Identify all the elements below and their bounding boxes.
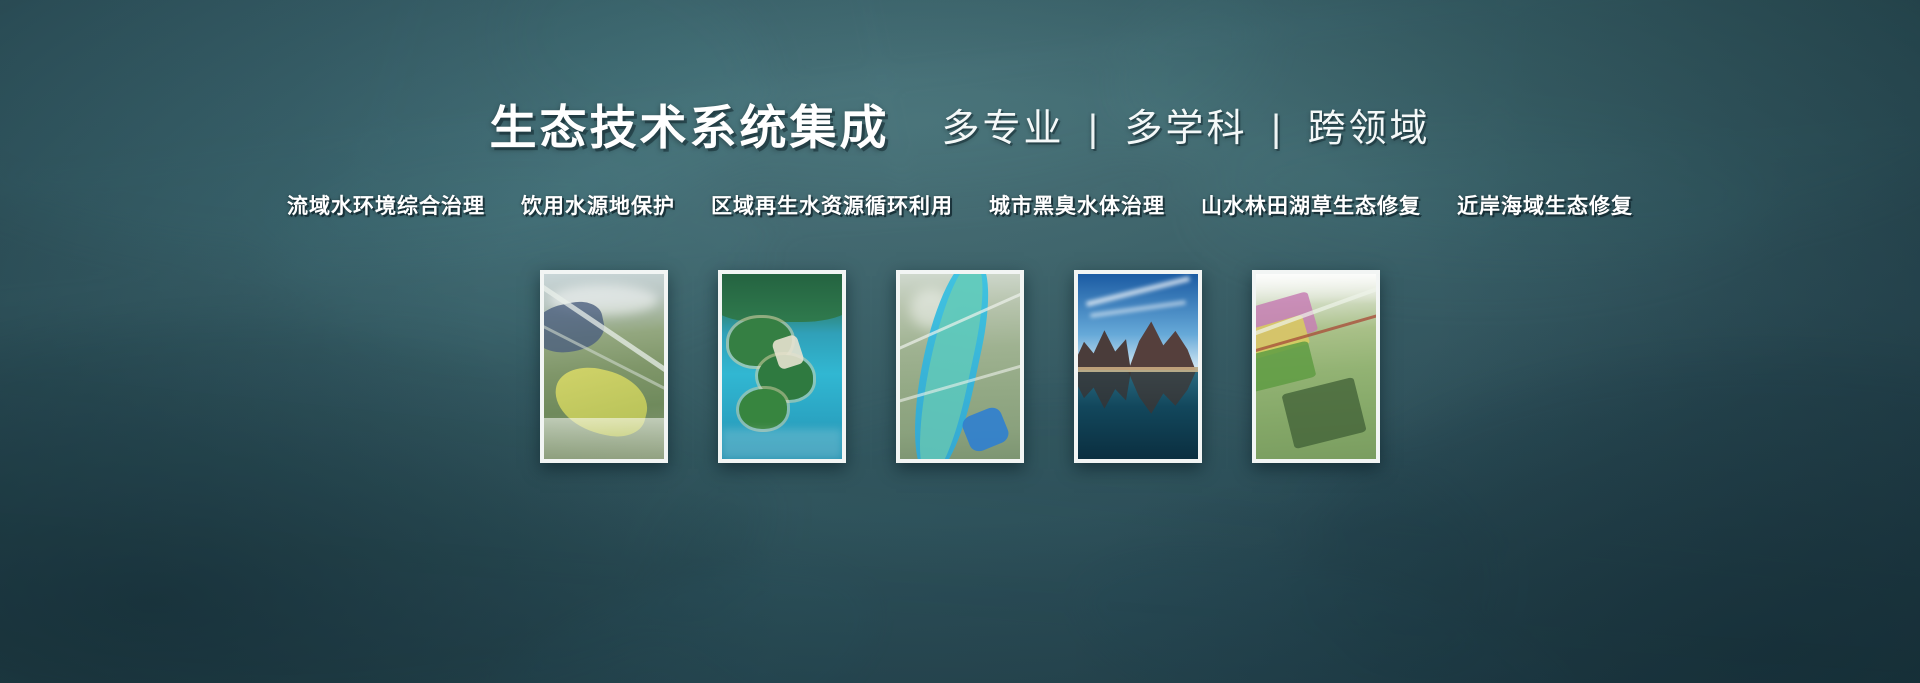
subtitle-part-2: 多学科	[1124, 108, 1247, 150]
keyword-item-1[interactable]: 流域水环境综合治理	[287, 190, 485, 220]
page-subtitle: 多专业 | 多学科 | 跨领域	[941, 110, 1430, 151]
subtitle-separator-1: |	[1088, 108, 1101, 150]
keyword-item-6[interactable]: 近岸海域生态修复	[1457, 190, 1633, 220]
hero-banner: 生态技术系统集成 多专业 | 多学科 | 跨领域 流域水环境综合治理 饮用水源地…	[0, 0, 1920, 683]
keyword-item-5[interactable]: 山水林田湖草生态修复	[1201, 190, 1421, 220]
keyword-item-4[interactable]: 城市黑臭水体治理	[989, 190, 1165, 220]
gallery-thumb-farmland-mosaic-plan[interactable]	[1252, 270, 1380, 463]
keyword-item-2[interactable]: 饮用水源地保护	[521, 190, 675, 220]
thumbnail-image	[722, 274, 842, 459]
thumbnail-image	[1256, 274, 1376, 459]
subtitle-part-3: 跨领域	[1308, 108, 1431, 150]
keyword-item-3[interactable]: 区域再生水资源循环利用	[711, 190, 953, 220]
gallery-thumb-river-corridor-plan[interactable]	[896, 270, 1024, 463]
thumbnail-image	[544, 274, 664, 459]
thumbnail-image	[900, 274, 1020, 459]
thumbnail-gallery	[0, 270, 1920, 463]
subtitle-separator-2: |	[1271, 108, 1284, 150]
page-title: 生态技术系统集成	[489, 104, 889, 151]
thumbnail-image	[1078, 274, 1198, 459]
banner-content: 生态技术系统集成 多专业 | 多学科 | 跨领域 流域水环境综合治理 饮用水源地…	[0, 0, 1920, 683]
gallery-thumb-watershed-aerial-plan[interactable]	[540, 270, 668, 463]
subtitle-part-1: 多专业	[941, 108, 1064, 150]
keyword-list: 流域水环境综合治理 饮用水源地保护 区域再生水资源循环利用 城市黑臭水体治理 山…	[0, 190, 1920, 220]
headline-row: 生态技术系统集成 多专业 | 多学科 | 跨领域	[0, 104, 1920, 151]
gallery-thumb-turquoise-lake-islands[interactable]	[718, 270, 846, 463]
gallery-thumb-mountain-lake-reflection[interactable]	[1074, 270, 1202, 463]
